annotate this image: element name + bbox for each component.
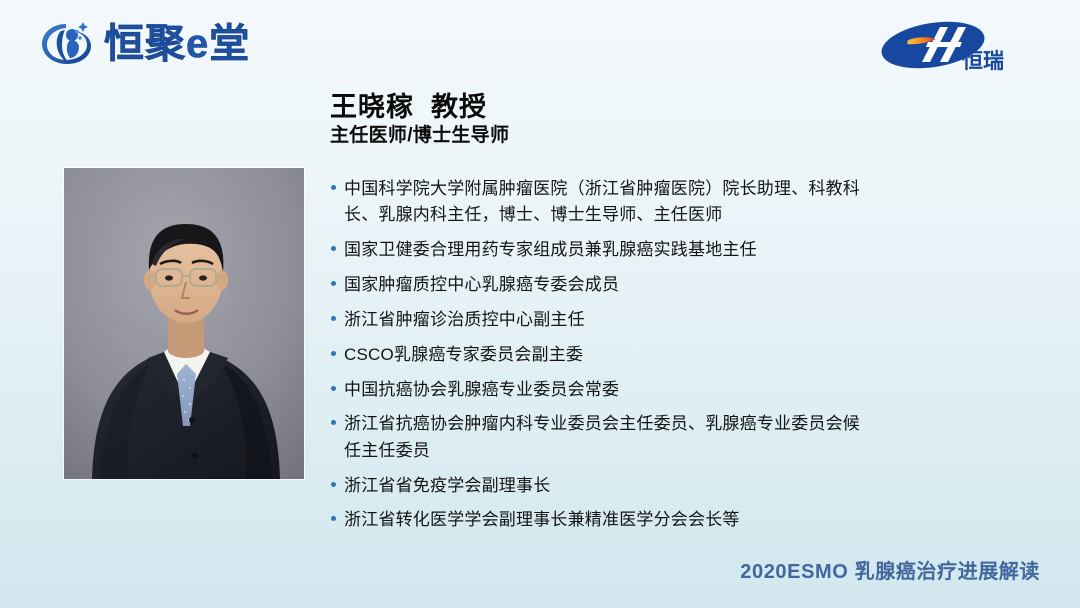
footer-title: 2020ESMO 乳腺癌治疗进展解读 [740, 555, 1040, 584]
credential-line: 浙江省省免疫学会副理事长 [344, 473, 911, 499]
list-item: 浙江省抗癌协会肿瘤内科专业委员会主任委员、乳腺癌专业委员会候 任主任委员 [331, 411, 911, 464]
svg-text:恒瑞: 恒瑞 [962, 49, 1004, 73]
bullet-icon [331, 307, 344, 321]
bullet-icon [331, 473, 344, 487]
credential-line: 中国科学院大学附属肿瘤医院（浙江省肿瘤医院）院长助理、科教科 [344, 176, 911, 202]
list-item: 中国抗癌协会乳腺癌专业委员会常委 [331, 377, 911, 403]
list-item: 浙江省转化医学学会副理事长兼精准医学分会会长等 [331, 507, 911, 533]
orbit-person-sparkle-icon [36, 14, 98, 76]
list-item: CSCO乳腺癌专家委员会副主委 [331, 342, 911, 368]
list-item: 国家肿瘤质控中心乳腺癌专委会成员 [331, 272, 911, 298]
bullet-icon [331, 272, 344, 286]
credential-line: 国家卫健委合理用药专家组成员兼乳腺癌实践基地主任 [344, 237, 911, 263]
list-item: 浙江省省免疫学会副理事长 [331, 473, 911, 499]
speaker-name: 王晓稼 教授 [330, 92, 950, 123]
brand-logo-right: 恒瑞 [878, 18, 1018, 80]
list-item: 中国科学院大学附属肿瘤医院（浙江省肿瘤医院）院长助理、科教科 长、乳腺内科主任，… [331, 176, 911, 229]
bullet-icon [331, 342, 344, 356]
credentials-list: 中国科学院大学附属肿瘤医院（浙江省肿瘤医院）院长助理、科教科 长、乳腺内科主任，… [331, 176, 911, 542]
credential-line: 浙江省抗癌协会肿瘤内科专业委员会主任委员、乳腺癌专业委员会候 [344, 411, 911, 437]
bullet-icon [331, 237, 344, 251]
list-item: 国家卫健委合理用药专家组成员兼乳腺癌实践基地主任 [331, 237, 911, 263]
credential-line: 中国抗癌协会乳腺癌专业委员会常委 [344, 377, 911, 403]
bullet-icon [331, 507, 344, 521]
speaker-portrait [64, 168, 304, 479]
list-item: 浙江省肿瘤诊治质控中心副主任 [331, 307, 911, 333]
credential-line: 国家肿瘤质控中心乳腺癌专委会成员 [344, 272, 911, 298]
credential-line: 浙江省转化医学学会副理事长兼精准医学分会会长等 [344, 507, 911, 533]
credential-line: CSCO乳腺癌专家委员会副主委 [344, 342, 911, 368]
brand-left-wordmark: 恒聚e堂 [104, 24, 250, 67]
hengrui-oval-icon: 恒瑞 [878, 18, 1018, 80]
credential-line: 任主任委员 [344, 438, 911, 464]
bullet-icon [331, 377, 344, 391]
bullet-icon [331, 176, 344, 190]
speaker-info: 王晓稼 教授 主任医师/博士生导师 [330, 92, 950, 148]
brand-logo-left: 恒聚e堂 [36, 14, 250, 76]
bullet-icon [331, 411, 344, 425]
credential-line: 长、乳腺内科主任，博士、博士生导师、主任医师 [344, 202, 911, 228]
credential-line: 浙江省肿瘤诊治质控中心副主任 [344, 307, 911, 333]
speaker-title: 主任医师/博士生导师 [330, 125, 950, 148]
